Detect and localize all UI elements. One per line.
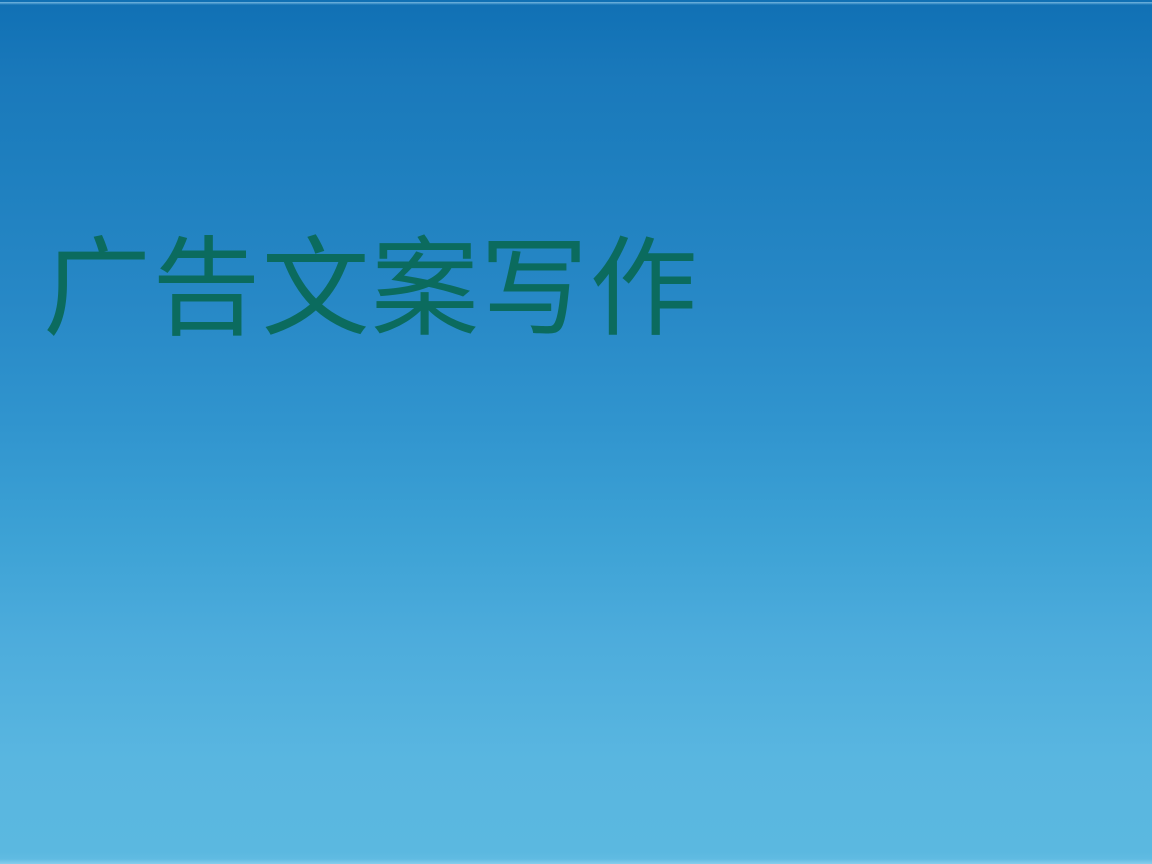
- bottom-edge-accent-line: [0, 859, 1152, 864]
- presentation-slide: 广告文案写作: [0, 0, 1152, 864]
- slide-title[interactable]: 广告文案写作: [43, 228, 699, 353]
- top-edge-accent-line: [0, 2, 1152, 5]
- body-placeholder[interactable]: [90, 400, 1065, 800]
- title-placeholder[interactable]: 广告文案写作: [43, 216, 1043, 366]
